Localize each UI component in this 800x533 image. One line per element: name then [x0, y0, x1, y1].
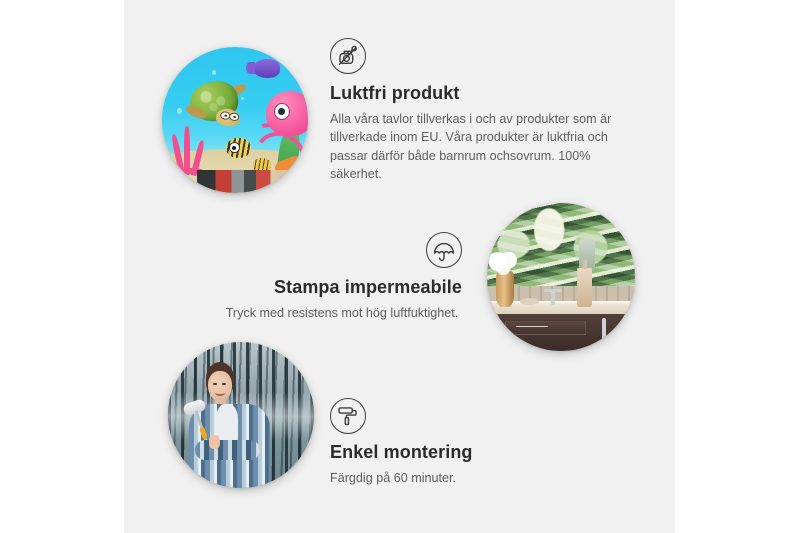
- octopus: [253, 91, 308, 158]
- product-image-forest-installer: [168, 342, 314, 488]
- faucet: [551, 289, 555, 305]
- purple-fish: [253, 59, 281, 78]
- product-image-bathroom-mural: [487, 203, 635, 351]
- feature-odour-free: Luktfri produkt Alla våra tavlor tillver…: [330, 38, 630, 183]
- feature-title: Luktfri produkt: [330, 83, 630, 104]
- flowers: [488, 252, 521, 276]
- striped-fish: [226, 138, 251, 158]
- bubble: [212, 70, 216, 74]
- product-image-ocean-mural: [162, 47, 308, 193]
- vanity-cabinet: [496, 314, 635, 351]
- feature-waterproof: Stampa impermeabile Tryck med resistens …: [222, 232, 462, 322]
- paint-roller-icon: [330, 398, 366, 434]
- feature-easy-mounting: Enkel montering Färgdig på 60 minuter.: [330, 398, 570, 487]
- feature-body: Tryck med resistens mot hög luftfuktighe…: [222, 304, 462, 322]
- installer-person: [187, 362, 272, 488]
- vase: [496, 271, 514, 307]
- turtle: [185, 82, 249, 133]
- coral: [171, 126, 224, 176]
- soap-dish: [520, 298, 539, 305]
- feature-body: Alla våra tavlor tillverkas i och av pro…: [330, 110, 620, 183]
- umbrella-icon: [426, 232, 462, 268]
- dispenser-bottle: [577, 268, 592, 306]
- feature-title: Enkel montering: [330, 442, 570, 463]
- feature-title: Stampa impermeabile: [222, 277, 462, 298]
- tall-bottle: [579, 239, 595, 272]
- photo-strip: [197, 170, 299, 193]
- no-fragrance-spray-icon: [330, 38, 366, 74]
- product-feature-graphic: Luktfri produkt Alla våra tavlor tillver…: [0, 0, 800, 533]
- feature-body: Färgdig på 60 minuter.: [330, 469, 570, 487]
